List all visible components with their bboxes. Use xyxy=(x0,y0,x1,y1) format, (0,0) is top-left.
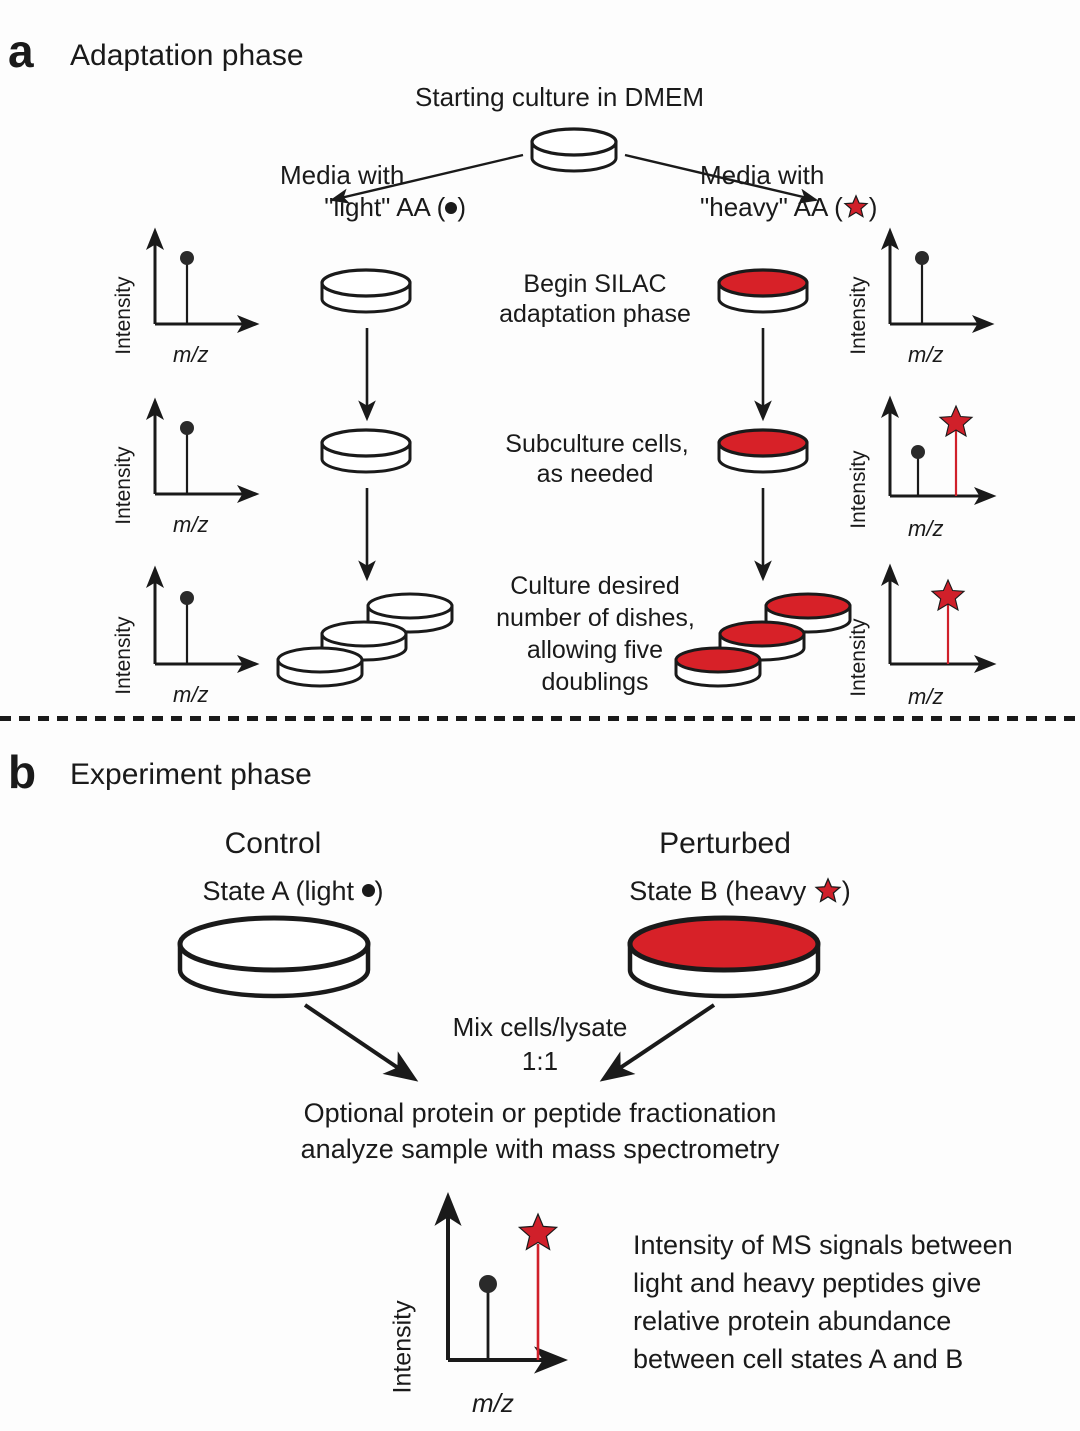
starting-culture-label: Starting culture in DMEM xyxy=(415,82,704,113)
flow-arrow-right-2 xyxy=(748,488,778,588)
spectrum-a-left-row2: Intensity m/z xyxy=(125,392,285,512)
spectrum-y-label: Intensity xyxy=(112,617,137,695)
spectrum-x-label: m/z xyxy=(173,342,208,368)
spectrum-axes xyxy=(125,560,285,682)
perturbed-state-paren: ) xyxy=(842,876,851,906)
flow-arrow-right-1 xyxy=(748,328,778,428)
dish-light-row1 xyxy=(318,268,414,318)
spectrum-x-label: m/z xyxy=(908,342,943,368)
control-state-paren: ) xyxy=(375,876,384,906)
result-line4: between cell states A and B xyxy=(633,1344,963,1376)
spectrum-axes xyxy=(125,222,285,342)
media-light-paren: ) xyxy=(457,192,466,222)
step-1-line1: Begin SILAC xyxy=(480,270,710,300)
spectrum-y-label: Intensity xyxy=(847,277,872,355)
media-light-line1: Media with xyxy=(280,160,404,191)
panel-b-letter: b xyxy=(8,745,36,799)
spectrum-a-left-row1: Intensity m/z xyxy=(125,222,285,342)
spectrum-axes xyxy=(410,1192,630,1392)
spectrum-y-label: Intensity xyxy=(112,447,137,525)
control-state-text: State A (light xyxy=(202,876,361,906)
starting-culture-dish xyxy=(528,128,620,176)
media-heavy-paren: ) xyxy=(869,192,878,222)
control-title: Control xyxy=(148,826,398,861)
dish-stack-light xyxy=(270,586,480,684)
media-light-line2: "light" AA () xyxy=(206,192,466,223)
panel-b-title: Experiment phase xyxy=(70,757,312,792)
spectrum-x-label: m/z xyxy=(173,682,208,708)
result-line2: light and heavy peptides give xyxy=(633,1268,981,1300)
spectrum-axes xyxy=(860,560,1030,684)
control-state: State A (light ) xyxy=(148,876,438,907)
heavy-star-icon xyxy=(843,194,869,220)
dish-heavy-row1 xyxy=(715,268,811,318)
step-1-line2: adaptation phase xyxy=(455,300,735,330)
spectrum-x-label: m/z xyxy=(173,512,208,538)
dish-light-row2 xyxy=(318,428,414,478)
spectrum-a-left-row3: Intensity m/z xyxy=(125,560,285,682)
spectrum-x-label: m/z xyxy=(908,684,943,710)
step-2-line2: as needed xyxy=(480,460,710,490)
flow-arrow-left-1 xyxy=(352,328,382,428)
spectrum-axes xyxy=(125,392,285,512)
panel-a-letter: a xyxy=(8,24,34,78)
result-line3: relative protein abundance xyxy=(633,1306,951,1338)
spectrum-y-label: Intensity xyxy=(112,277,137,355)
perturbed-title: Perturbed xyxy=(600,826,850,861)
media-heavy-line1: Media with xyxy=(700,160,824,191)
spectrum-axes xyxy=(860,392,1030,516)
mix-label-line2: 1:1 xyxy=(380,1046,700,1077)
result-line1: Intensity of MS signals between xyxy=(633,1230,1013,1262)
spectrum-a-right-row2: Intensity m/z xyxy=(860,392,1030,516)
panel-divider xyxy=(0,716,1080,721)
light-dot-icon xyxy=(445,202,457,214)
fractionation-line1: Optional protein or peptide fractionatio… xyxy=(130,1098,950,1130)
media-light-text: "light" AA ( xyxy=(324,192,445,222)
spectrum-a-right-row1: Intensity m/z xyxy=(860,222,1020,342)
dish-control-large xyxy=(172,912,377,1010)
spectrum-y-label: Intensity xyxy=(847,451,872,529)
light-dot-icon xyxy=(362,884,375,897)
spectrum-x-label: m/z xyxy=(908,516,943,542)
media-heavy-line2: "heavy" AA ( ) xyxy=(700,192,877,223)
perturbed-state-text: State B (heavy xyxy=(629,876,814,906)
dish-heavy-row2 xyxy=(715,428,811,478)
fractionation-line2: analyze sample with mass spectrometry xyxy=(130,1134,950,1166)
media-heavy-text: "heavy" AA ( xyxy=(700,192,843,222)
spectrum-b-result: Intensity m/z xyxy=(410,1192,630,1392)
spectrum-y-label: Intensity xyxy=(389,1300,419,1393)
flow-arrow-left-2 xyxy=(352,488,382,588)
perturbed-state: State B (heavy ) xyxy=(590,876,890,907)
spectrum-x-label: m/z xyxy=(472,1388,514,1419)
spectrum-y-label: Intensity xyxy=(847,619,872,697)
step-2-line1: Subculture cells, xyxy=(462,430,732,460)
panel-a-title: Adaptation phase xyxy=(70,38,304,73)
mix-label-line1: Mix cells/lysate xyxy=(380,1012,700,1043)
spectrum-a-right-row3: Intensity m/z xyxy=(860,560,1030,684)
silac-workflow-figure: a Adaptation phase Starting culture in D… xyxy=(0,0,1080,1431)
dish-perturbed-large xyxy=(622,912,827,1010)
spectrum-axes xyxy=(860,222,1020,342)
heavy-star-icon xyxy=(814,877,842,905)
